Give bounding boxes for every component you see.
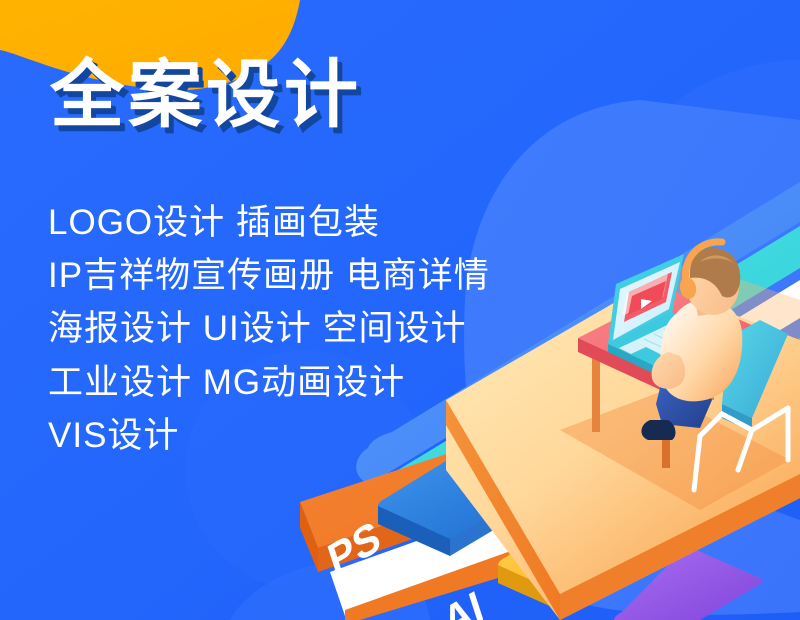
service-list: LOGO设计 插画包装 IP吉祥物宣传画册 电商详情 海报设计 UI设计 空间设… <box>48 196 568 462</box>
design-service-poster: PS AI AE <box>0 0 800 620</box>
page-title: 全案设计 <box>50 58 362 132</box>
service-line-2: IP吉祥物宣传画册 电商详情 <box>48 249 568 302</box>
service-line-1: LOGO设计 插画包装 <box>48 196 568 249</box>
service-line-5: VIS设计 <box>48 409 568 462</box>
service-line-4: 工业设计 MG动画设计 <box>48 356 568 409</box>
service-line-3: 海报设计 UI设计 空间设计 <box>48 302 568 355</box>
title-block: 全案设计 <box>50 58 362 132</box>
